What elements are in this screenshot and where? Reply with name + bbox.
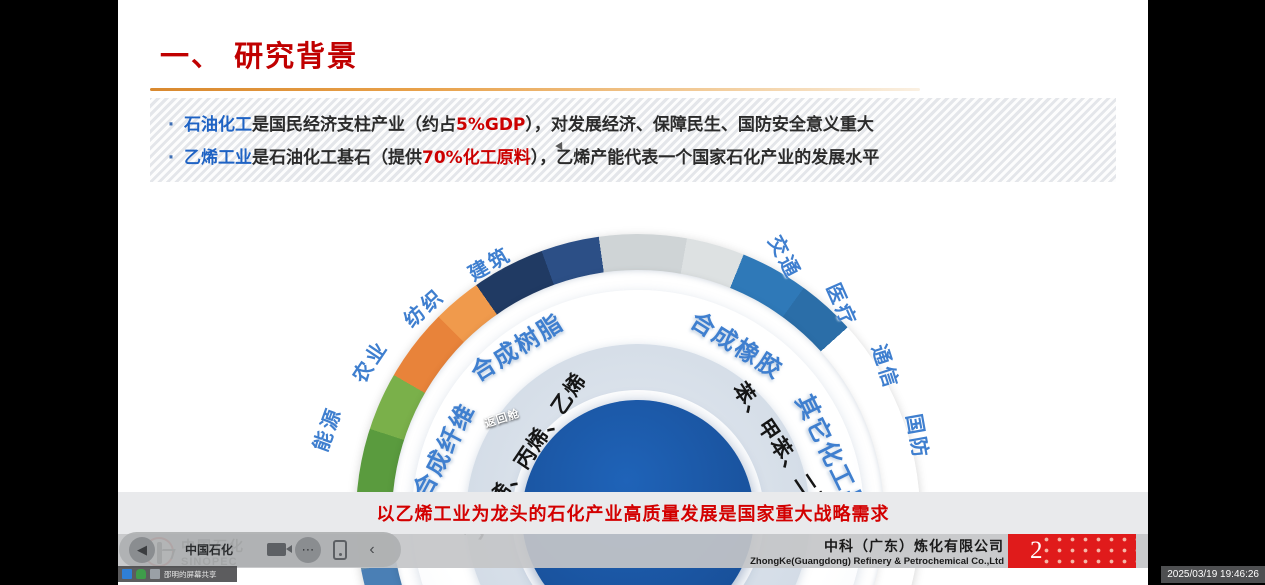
bullet-marker-icon: · <box>158 109 184 142</box>
bullet-2-segment-4: ），乙烯产能代表一个国家石化产业的发展水平 <box>531 142 880 175</box>
bullet-item-1: · 石油化工 是国民经济支柱产业（约占 5%GDP ），对发展经济、保障民生、国… <box>158 109 1116 142</box>
bullet-1-segment-1: 石油化工 <box>184 109 252 142</box>
chevron-left-icon: ‹ <box>369 541 374 559</box>
collapse-button[interactable]: ‹ <box>359 537 385 563</box>
bullet-1-segment-4: ），对发展经济、保障民生、国防安全意义重大 <box>525 109 874 142</box>
diagram-outer-label-energy: 能源 <box>305 402 348 455</box>
footer-company-cn: 中科（广东）炼化有限公司 <box>750 536 1004 556</box>
screen-root: 一、 研究背景 · 石油化工 是国民经济支柱产业（约占 5%GDP ），对发展经… <box>0 0 1265 585</box>
page-title-text: 一、 研究背景 <box>160 33 358 75</box>
screen-share-label: 邵明的屏幕共享 <box>164 569 217 580</box>
phone-button[interactable] <box>327 537 353 563</box>
footer-company: 中科（广东）炼化有限公司 ZhongKe(Guangdong) Refinery… <box>750 536 1004 567</box>
page-number-badge: 2 <box>1008 534 1136 568</box>
letterbox-bar-right <box>1148 0 1265 585</box>
slide-banner-text: 以乙烯工业为龙头的石化产业高质量发展是国家重大战略需求 <box>377 500 890 526</box>
mobile-phone-icon <box>333 540 347 560</box>
share-thumb-label-cn: 中国石化 <box>185 541 233 558</box>
bullet-2-segment-3: 70%化工原料 <box>422 142 531 175</box>
meeting-toolbar[interactable]: ◀ 中国石化 ⋯ ‹ <box>119 532 401 567</box>
ellipsis-icon: ⋯ <box>302 542 315 558</box>
letterbox-bar-left <box>0 0 118 585</box>
video-camera-icon <box>267 543 286 556</box>
bullet-item-2: · 乙烯工业 是石油化工基石（提供 70%化工原料 ），乙烯产能代表一个国家石化… <box>158 142 1116 175</box>
screen-share-thumbnail[interactable]: 中国石化 <box>161 537 257 563</box>
timestamp-overlay: 2025/03/19 19:46:26 <box>1161 566 1265 583</box>
bullet-1-segment-2: 是国民经济支柱产业（约占 <box>252 109 456 142</box>
screen-share-statusbar[interactable]: 邵明的屏幕共享 <box>118 566 237 582</box>
bullet-2-segment-1: 乙烯工业 <box>184 142 252 175</box>
bullet-2-segment-2: 是石油化工基石（提供 <box>252 142 422 175</box>
page-number: 2 <box>1030 537 1043 565</box>
slide-banner: 以乙烯工业为龙头的石化产业高质量发展是国家重大战略需求 <box>118 492 1148 534</box>
back-button[interactable]: ◀ <box>129 537 155 563</box>
microphone-icon[interactable] <box>136 569 146 579</box>
bullet-marker-icon: · <box>158 142 184 175</box>
diagram-outer-label-agriculture: 农业 <box>344 333 394 387</box>
screen-icon[interactable] <box>150 569 160 579</box>
more-options-button[interactable]: ⋯ <box>295 537 321 563</box>
bullet-panel: · 石油化工 是国民经济支柱产业（约占 5%GDP ），对发展经济、保障民生、国… <box>150 98 1116 182</box>
footer-company-en: ZhongKe(Guangdong) Refinery & Petrochemi… <box>750 556 1004 567</box>
chevron-left-circle-icon: ◀ <box>137 542 147 558</box>
page-title: 一、 研究背景 <box>160 33 358 75</box>
bullet-1-segment-3: 5%GDP <box>456 109 525 142</box>
camera-button[interactable] <box>263 537 289 563</box>
title-divider <box>150 88 920 91</box>
app-icon <box>122 569 132 579</box>
presentation-slide: 一、 研究背景 · 石油化工 是国民经济支柱产业（约占 5%GDP ），对发展经… <box>118 0 1148 585</box>
